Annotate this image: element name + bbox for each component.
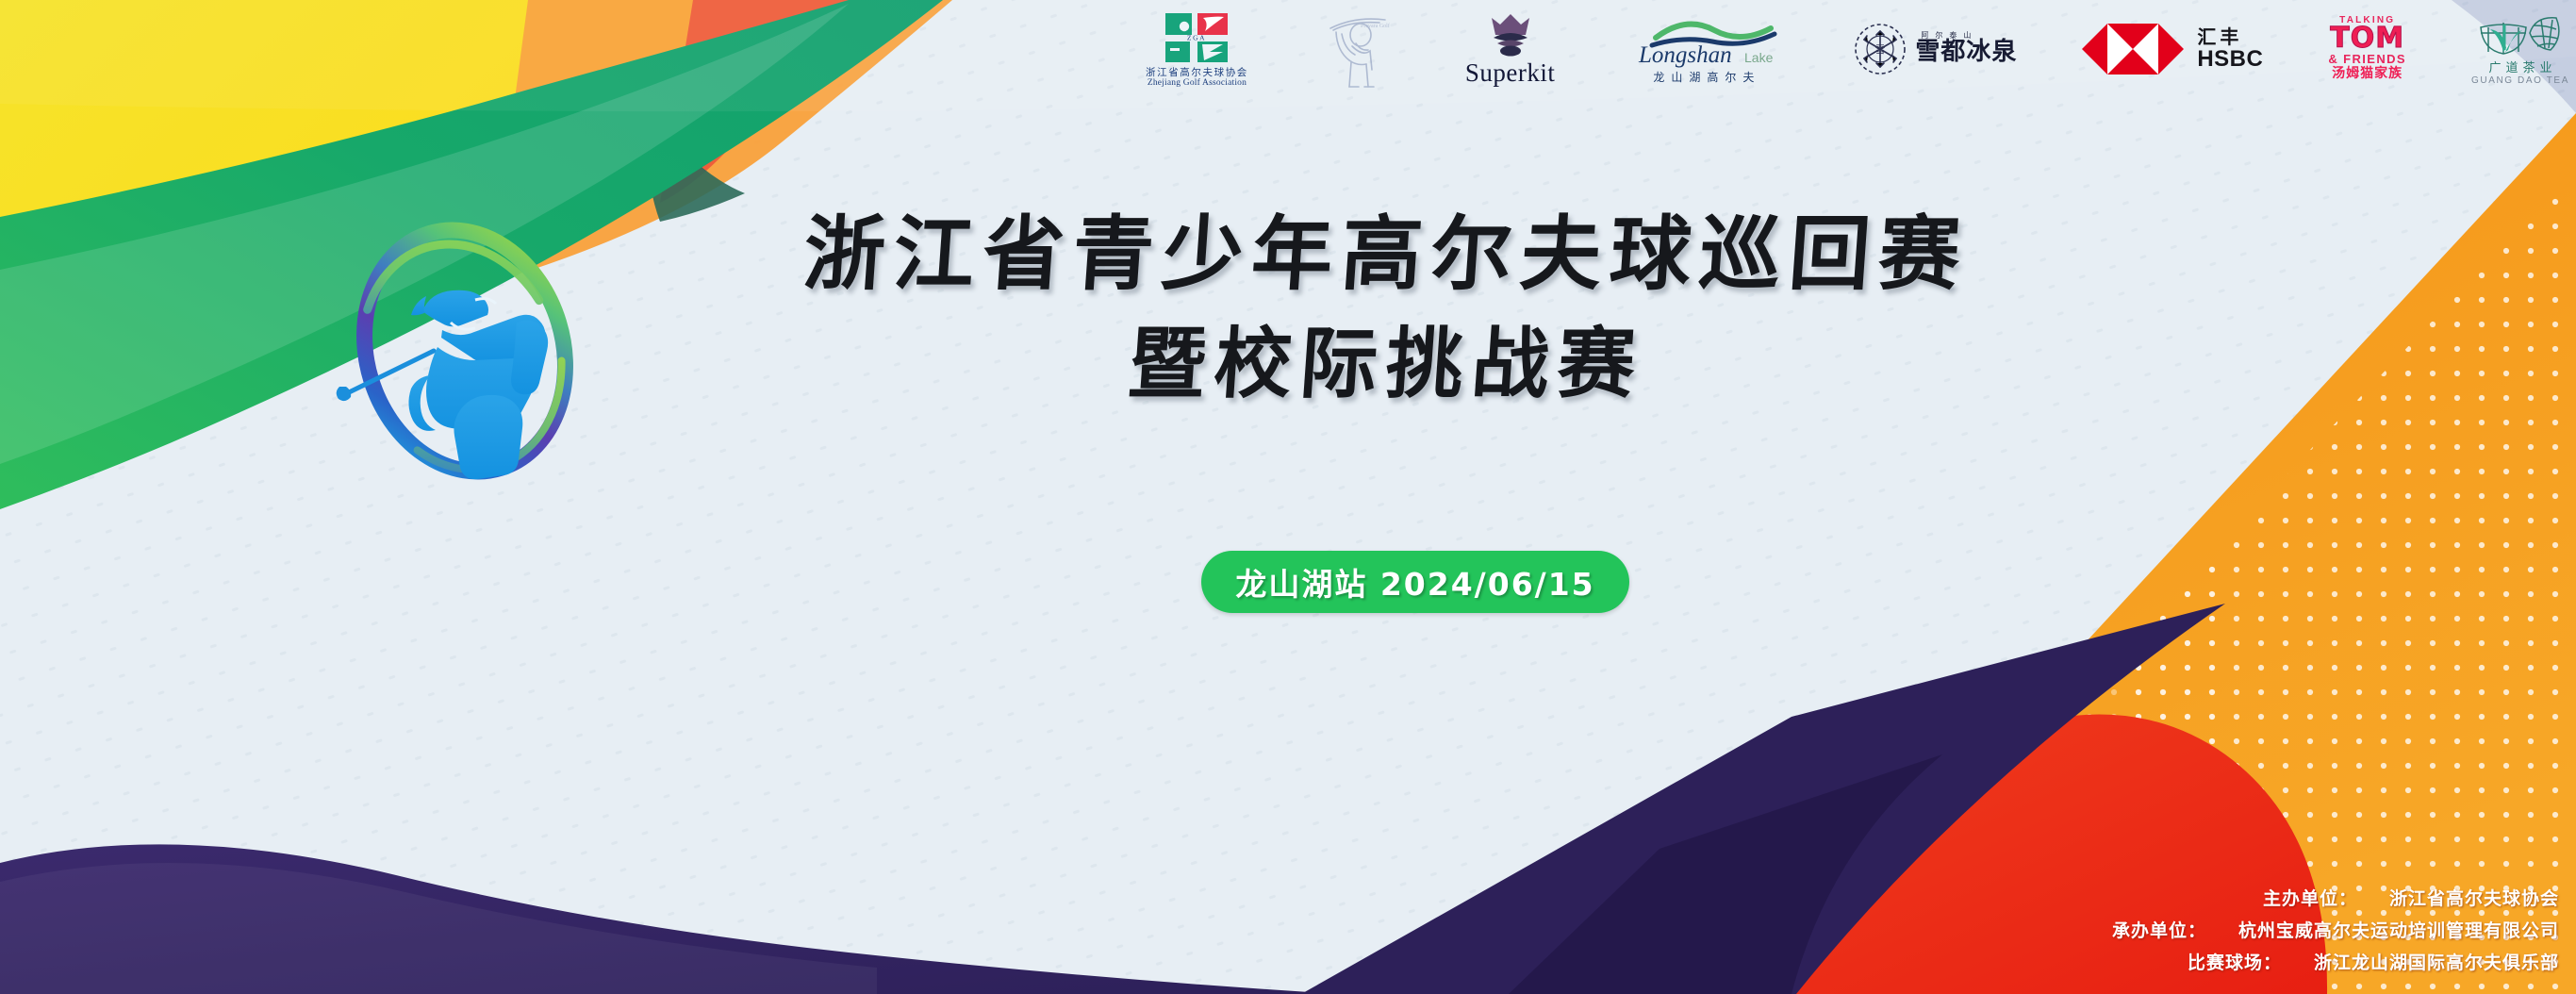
tournament-banner: ZGA 浙江省高尔夫球协会 Zhejiang Golf Association	[0, 0, 2576, 994]
longshan-lake-icon: Longshan Lake	[1620, 13, 1788, 68]
guang-dao-label-cn: 广道茶业	[2484, 61, 2556, 76]
page-subtitle: 暨校际挑战赛	[582, 323, 2190, 405]
credit-value-venue: 浙江龙山湖国际高尔夫俱乐部	[2314, 949, 2559, 974]
background-artwork	[0, 0, 2576, 994]
golfer-line-art-icon: Prevara Golf	[1313, 8, 1400, 91]
svg-text:Longshan: Longshan	[1638, 42, 1732, 68]
credit-value-organizer: 浙江省高尔夫球协会	[2389, 885, 2559, 910]
svg-text:Lake: Lake	[1744, 50, 1774, 65]
tom-friends-label: & FRIENDS	[2328, 53, 2406, 66]
sponsor-golfer-line-art[interactable]: Prevara Golf	[1313, 4, 1400, 94]
svg-text:Prevara Golf: Prevara Golf	[1361, 23, 1390, 29]
guang-dao-tea-leaf-icon	[2475, 12, 2566, 61]
credit-label-host: 承办单位：	[2112, 917, 2223, 942]
credit-row-host: 承办单位： 杭州宝威高尔夫运动培训管理有限公司	[2112, 917, 2559, 942]
credit-row-organizer: 主办单位： 浙江省高尔夫球协会	[2112, 885, 2559, 910]
credit-value-host: 杭州宝威高尔夫运动培训管理有限公司	[2238, 917, 2559, 942]
credits-block: 主办单位： 浙江省高尔夫球协会 承办单位： 杭州宝威高尔夫运动培训管理有限公司 …	[2112, 885, 2559, 981]
credit-row-venue: 比赛球场： 浙江龙山湖国际高尔夫俱乐部	[2112, 949, 2559, 974]
sponsor-logo-strip: ZGA 浙江省高尔夫球协会 Zhejiang Golf Association	[1146, 4, 2569, 94]
sponsor-talking-tom-and-friends[interactable]: TALKING TOM & FRIENDS 汤姆猫家族	[2328, 4, 2406, 94]
title-block: 浙江省青少年高尔夫球巡回赛 暨校际挑战赛	[585, 212, 2188, 405]
xuedu-wordmark-cn: 雪都冰泉	[1915, 40, 2017, 65]
superkit-crown-icon	[1484, 12, 1537, 59]
credit-label-organizer: 主办单位：	[2263, 885, 2374, 910]
tom-wordmark: TOM	[2330, 25, 2404, 53]
zga-logo-icon: ZGA	[1162, 10, 1231, 65]
sponsor-superkit[interactable]: Superkit	[1465, 4, 1556, 94]
credit-label-venue: 比赛球场：	[2188, 949, 2299, 974]
sponsor-guang-dao-tea[interactable]: 广道茶业 GUANG DAO TEA	[2471, 4, 2569, 94]
superkit-wordmark: Superkit	[1465, 60, 1556, 86]
sponsor-longshan-lake-golf[interactable]: Longshan Lake 龙山湖高尔夫	[1620, 4, 1788, 94]
longshan-label-cn: 龙山湖高尔夫	[1647, 69, 1760, 85]
hsbc-hexagon-icon	[2082, 21, 2184, 77]
tom-label-cn: 汤姆猫家族	[2332, 66, 2403, 82]
date-badge: 龙山湖站 2024/06/15	[1201, 551, 1629, 613]
hsbc-wordmark: HSBC	[2197, 47, 2263, 71]
zga-label-en: Zhejiang Golf Association	[1148, 78, 1247, 88]
zga-label-cn: 浙江省高尔夫球协会	[1146, 67, 1248, 78]
sponsor-hsbc[interactable]: 汇丰 HSBC	[2082, 4, 2263, 94]
guang-dao-label-en: GUANG DAO TEA	[2471, 75, 2569, 86]
snowflake-seal-icon: 雪	[1853, 22, 1907, 76]
sponsor-zhejiang-golf-association[interactable]: ZGA 浙江省高尔夫球协会 Zhejiang Golf Association	[1146, 4, 1248, 94]
golfer-swing-emblem-icon	[332, 209, 598, 492]
hsbc-label-cn: 汇丰	[2197, 27, 2242, 47]
page-title: 浙江省青少年高尔夫球巡回赛	[582, 212, 2190, 297]
svg-text:ZGA: ZGA	[1187, 33, 1206, 41]
svg-text:雪: 雪	[1875, 43, 1886, 56]
date-badge-text: 龙山湖站 2024/06/15	[1235, 559, 1594, 605]
sponsor-xuedu-bingquan[interactable]: 雪 阿尔泰山 雪都冰泉	[1853, 4, 2017, 94]
